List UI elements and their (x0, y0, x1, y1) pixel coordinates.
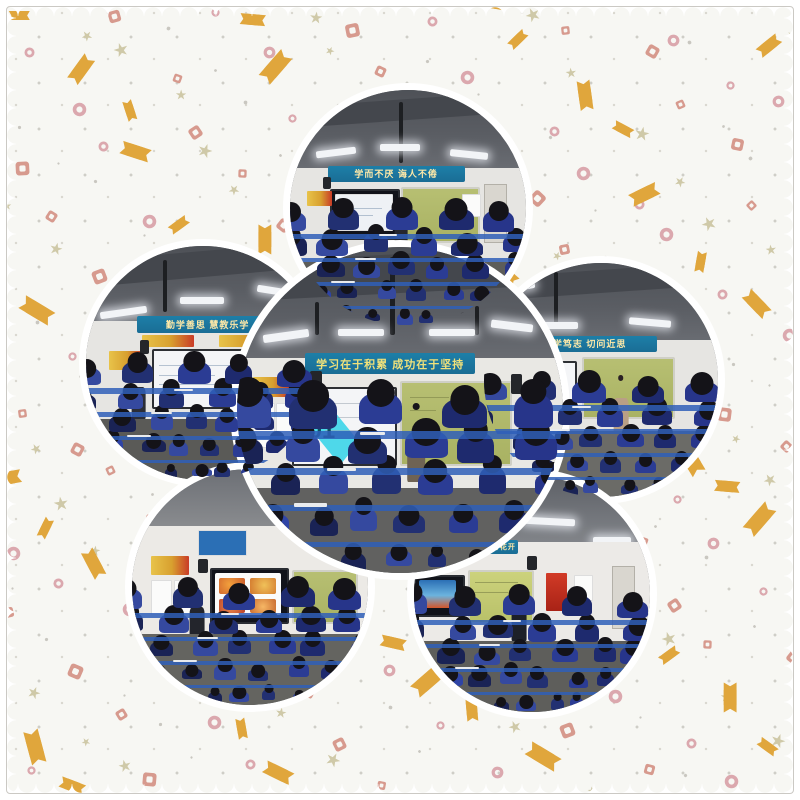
student-desk (414, 692, 650, 695)
desk-paper (572, 406, 590, 408)
student-figure (316, 237, 347, 256)
student-figure (437, 646, 465, 664)
desk-paper (294, 503, 327, 506)
banner-text: 学习在于积累 成功在于坚持 (316, 356, 464, 372)
student-figure (248, 669, 269, 680)
student-figure (365, 313, 380, 322)
board-writing (475, 582, 517, 583)
student-figure (609, 699, 624, 709)
student-figure (544, 514, 563, 536)
student-figure (465, 556, 490, 573)
student-figure (572, 380, 606, 403)
student-figure (562, 595, 592, 616)
student-figure (214, 466, 230, 476)
desk-paper (360, 432, 386, 435)
student-figure (182, 668, 202, 679)
student-figure (96, 468, 114, 480)
student-figure (320, 692, 333, 704)
student-figure (597, 673, 615, 686)
student-figure (256, 617, 283, 633)
student-figure (86, 394, 96, 410)
student-figure (310, 516, 338, 536)
student-figure (359, 392, 402, 424)
student-figure (150, 641, 173, 656)
wall-speaker (323, 177, 331, 189)
student-figure (494, 701, 509, 711)
student-figure (237, 551, 238, 567)
student-figure (291, 555, 316, 571)
student-figure (339, 310, 354, 322)
student-figure (262, 689, 275, 701)
student-figure (237, 392, 271, 428)
student-figure (620, 646, 647, 664)
student-figure (505, 260, 526, 277)
student-figure (499, 510, 529, 534)
student-figure (132, 641, 148, 655)
student-desk (414, 620, 650, 625)
desk-paper (197, 637, 218, 639)
student-desk (132, 637, 368, 641)
student-figure (86, 367, 101, 386)
ceiling-lamp (180, 297, 224, 304)
student-figure (454, 699, 470, 709)
student-figure (192, 468, 211, 476)
student-figure (271, 472, 300, 495)
student-figure (430, 700, 446, 708)
student-figure (621, 484, 638, 494)
student-figure (86, 439, 89, 454)
student-figure (237, 437, 263, 464)
student-figure (449, 512, 479, 533)
student-figure (654, 432, 676, 448)
ceiling-lamp (429, 329, 475, 337)
student-desk (484, 477, 718, 480)
student-figure (503, 593, 534, 614)
student-desk (86, 412, 320, 416)
student-figure (651, 482, 667, 495)
desk-paper (479, 644, 500, 646)
student-figure (509, 646, 530, 662)
student-desk (237, 468, 563, 475)
student-crowd (414, 589, 650, 712)
student-figure (673, 481, 688, 494)
student-desk (237, 431, 563, 439)
student-figure (635, 459, 656, 473)
student-figure (414, 648, 420, 665)
student-figure (444, 288, 464, 301)
student-figure (257, 513, 289, 533)
collage-canvas: 学而不厌 诲人不倦 (0, 0, 800, 800)
student-figure (86, 471, 89, 480)
student-figure (617, 600, 648, 619)
student-figure (209, 618, 238, 634)
student-figure (173, 586, 204, 608)
student-figure (141, 692, 156, 700)
student-figure (450, 623, 476, 640)
student-figure (600, 457, 621, 472)
student-figure (229, 691, 249, 702)
student-figure (300, 315, 315, 325)
desk-paper (327, 468, 356, 471)
student-figure (514, 393, 552, 428)
student-figure (223, 591, 255, 610)
ceiling-lamp (338, 329, 384, 337)
student-desk (237, 542, 563, 546)
student-figure (290, 211, 306, 231)
student-figure (358, 694, 368, 705)
banner-text: 学而不厌 诲人不倦 (354, 167, 438, 180)
student-figure (439, 208, 474, 230)
student-figure (351, 641, 368, 658)
student-figure (632, 384, 663, 403)
student-figure (685, 381, 718, 402)
student-figure (386, 207, 418, 230)
student-figure (151, 670, 168, 682)
student-desk (132, 661, 368, 665)
student-figure (703, 484, 718, 492)
student-figure (516, 700, 536, 711)
student-desk (132, 613, 368, 618)
student-figure (193, 638, 219, 655)
student-figure (109, 415, 136, 431)
student-figure (266, 438, 288, 453)
student-figure (468, 672, 491, 687)
photo-collage: 学而不厌 诲人不倦 (0, 0, 800, 800)
student-figure (508, 556, 528, 571)
student-figure (321, 666, 340, 679)
student-figure (289, 394, 337, 429)
student-figure (86, 417, 95, 433)
student-figure (378, 286, 395, 299)
student-figure (623, 623, 650, 641)
student-figure (462, 261, 489, 279)
wall-banner-center: 学习在于积累 成功在于坚持 (305, 353, 475, 374)
student-figure (484, 381, 507, 400)
desk-paper (174, 389, 192, 391)
student-desk (290, 258, 526, 262)
student-figure (393, 513, 425, 532)
desk-paper (151, 412, 172, 414)
student-figure (132, 588, 142, 609)
ceiling-pipe (399, 102, 403, 163)
student-figure (570, 697, 583, 709)
student-figure (169, 441, 188, 456)
student-figure (419, 314, 433, 323)
student-figure (317, 261, 345, 276)
desk-paper (261, 539, 298, 542)
student-figure (386, 550, 412, 566)
student-desk (414, 644, 650, 648)
student-figure (200, 443, 219, 455)
student-figure (579, 432, 602, 447)
student-figure (567, 459, 588, 470)
desk-paper (355, 258, 376, 260)
student-figure (691, 432, 717, 448)
student-figure (535, 472, 563, 495)
student-desk (290, 306, 526, 309)
student-figure (178, 361, 210, 384)
student-figure (631, 669, 650, 684)
student-desk (237, 505, 563, 510)
student-figure (397, 313, 413, 325)
student-figure (451, 240, 482, 256)
student-figure (428, 552, 446, 567)
student-figure (347, 664, 364, 678)
student-figure (414, 592, 427, 614)
student-desk (290, 234, 526, 239)
student-figure (132, 693, 138, 704)
desk-paper (455, 667, 479, 669)
student-figure (311, 289, 331, 300)
wall-banner-strip (142, 335, 193, 347)
student-figure (470, 290, 494, 301)
student-figure (215, 415, 238, 432)
student-figure (483, 210, 514, 232)
student-figure (563, 485, 578, 497)
desk-paper (103, 458, 129, 460)
student-figure (293, 693, 306, 701)
student-figure (474, 651, 499, 666)
student-figure (165, 468, 177, 478)
student-desk (86, 388, 320, 393)
student-figure (328, 207, 359, 230)
student-figure (449, 595, 481, 616)
student-figure (671, 457, 692, 472)
desk-paper (331, 281, 355, 283)
student-figure (438, 672, 462, 686)
student-figure (583, 481, 598, 493)
wall-poster (151, 556, 189, 575)
student-figure (575, 622, 599, 641)
ceiling-lamp (380, 144, 420, 151)
student-figure (142, 439, 166, 453)
student-figure (455, 316, 474, 325)
ceiling-pipe (475, 306, 479, 335)
student-desk (414, 668, 650, 672)
student-figure (237, 512, 256, 535)
student-figure (704, 455, 718, 469)
student-figure (337, 286, 357, 298)
student-figure (426, 263, 447, 279)
wall-speaker (198, 559, 207, 573)
student-figure (509, 312, 526, 324)
student-figure (118, 391, 143, 409)
student-desk (290, 282, 526, 286)
student-figure (406, 286, 426, 302)
student-figure (214, 664, 236, 680)
ceiling-pipe (163, 260, 167, 311)
student-figure (348, 438, 388, 464)
wall-banner-top: 学而不厌 诲人不倦 (328, 166, 465, 183)
student-figure (328, 588, 361, 611)
student-figure (341, 552, 366, 572)
student-figure (552, 646, 579, 662)
student-crowd (132, 582, 368, 705)
student-figure (633, 699, 647, 711)
student-figure (486, 312, 504, 324)
student-figure (527, 673, 548, 688)
student-figure (208, 692, 222, 703)
student-figure (551, 698, 564, 711)
student-figure (512, 287, 526, 299)
desk-paper (173, 660, 197, 662)
student-figure (353, 263, 380, 278)
student-figure (130, 469, 144, 478)
student-figure (178, 693, 197, 703)
student-figure (569, 677, 588, 688)
student-desk (132, 685, 368, 688)
student-figure (442, 398, 486, 428)
student-figure (281, 585, 315, 607)
student-figure (540, 551, 563, 570)
student-figure (122, 361, 153, 383)
student-figure (258, 550, 277, 570)
